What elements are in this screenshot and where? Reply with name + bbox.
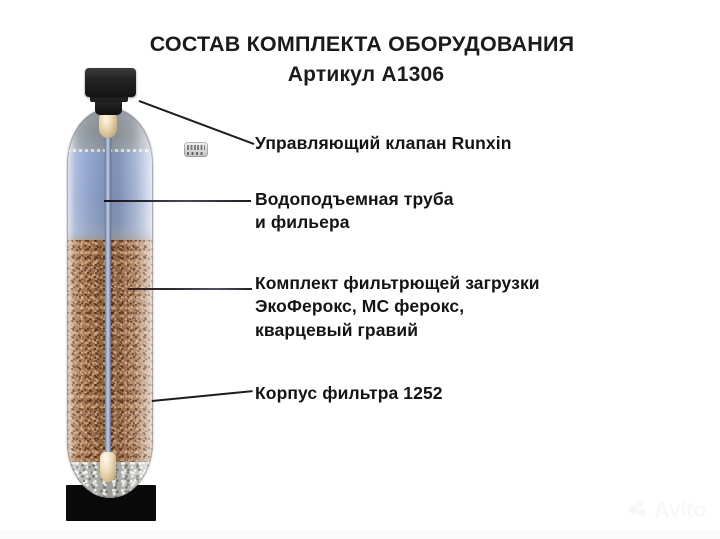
water-filter-vessel [0, 0, 230, 539]
callout-label-valve: Управляющий клапан Runxin [255, 132, 512, 155]
callout-label-media: Комплект фильтрющей загрузки ЭкоФерокс, … [255, 272, 540, 342]
valve-display-buttons [187, 152, 205, 155]
avito-dots-logo-icon [629, 500, 649, 520]
leader-line-riser [104, 200, 251, 202]
diagram-canvas: СОСТАВ КОМПЛЕКТА ОБОРУДОВАНИЯ Артикул A1… [0, 0, 720, 539]
riser-tube [105, 122, 111, 460]
leader-line-media [128, 288, 252, 290]
bottom-distributor-icon [100, 452, 116, 482]
avito-watermark: Avito [629, 499, 706, 521]
valve-display-icon [184, 142, 208, 157]
top-distributor-icon [99, 112, 117, 138]
bottom-strip [0, 530, 720, 539]
avito-watermark-text: Avito [654, 499, 706, 521]
valve-display-readout [187, 145, 205, 150]
callout-label-body: Корпус фильтра 1252 [255, 382, 443, 405]
callout-label-riser: Водоподъемная труба и фильера [255, 188, 454, 235]
control-valve-head [85, 68, 136, 97]
